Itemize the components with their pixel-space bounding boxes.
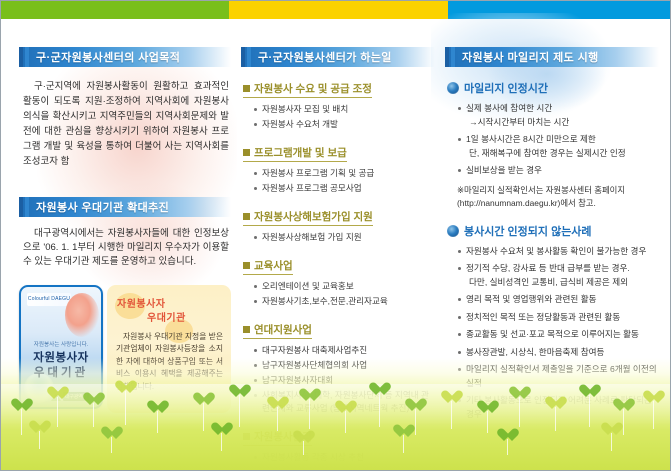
list-item: 실비보상을 받는 경우 (457, 164, 659, 178)
square-bullet-icon (243, 85, 250, 92)
columns-container: 구·군자원봉사센터의 사업목적 구·군지역에 자원봉사활동이 원활하고 효과적인… (1, 19, 671, 471)
left-section2-body: 대구광역시에서는 자원봉사자들에 대한 인정보상으로 '06. 1. 1부터 시… (23, 227, 229, 269)
middle-group-items: 대구자원봉사 대축제사업추진남구자원봉사단체협의회 사업남구자원봉사자대회사회복… (243, 344, 435, 415)
list-item: 오리엔테이션 및 교육홍보 (253, 280, 435, 293)
middle-group-heading: 자원봉사관리 (243, 429, 312, 446)
right-group-heading: 봉사시간 인정되지 않는사례 (447, 223, 659, 239)
list-item-text: 정치적인 목적 또는 정당활동과 관련된 활동 (466, 312, 620, 322)
square-bullet-icon (243, 149, 250, 156)
list-item-text: 실비보상을 받는 경우 (466, 165, 542, 175)
panel-title-line2: 우대기관 (147, 309, 186, 324)
emblem-label: 대구광역시 (63, 392, 89, 401)
list-item-text: 마일리지 실적확인서 제출일을 기준으로 6개월 이전의 실적 (466, 364, 657, 388)
panel-title-line1: 자원봉사자 (117, 295, 166, 310)
titlebar-tick-1 (19, 47, 23, 67)
middle-group-items: 자원봉사활동 각종 시상 추천자원봉사 동기부여, 인정, 보상자원봉사 체험활… (243, 451, 435, 471)
right-group: 마일리지 인정시간실제 봉사에 참여한 시간→시작시간부터 마치는 시간1일 봉… (447, 80, 659, 210)
city-emblem: 대구광역시 (51, 392, 95, 401)
middle-group-items: 자원봉사상해보험 가입 지원 (243, 231, 435, 244)
benefit-panel: 자원봉사자 우대기관 자원봉사 우대기관 지정을 받은 기관업체이 자원봉사등장… (107, 285, 231, 413)
list-item: 영리 목적 및 영업행위와 관련된 활동 (457, 293, 659, 307)
right-titlebar: 자원봉사 마일리지 제도 시행 (445, 47, 659, 67)
middle-group-heading-label: 교육사업 (254, 258, 293, 273)
list-item: 사회복지시설, 대학, 자원봉사단체 등 지역내 관련단체와 교류사업 (남구지… (253, 389, 435, 415)
left-section1-titlebar: 구·군자원봉사센터의 사업목적 (19, 47, 231, 67)
middle-group-heading: 교육사업 (243, 258, 293, 275)
titlebar-tick-2 (247, 47, 251, 67)
middle-group-items: 자원봉사자 모집 및 배치자원봉사 수요처 개발 (243, 103, 435, 131)
right-group: 봉사시간 인정되지 않는사례자원봉사 수요처 및 봉사활동 확인이 불가능한 경… (447, 223, 659, 422)
list-item: 자원봉사 수요처 및 봉사활동 확인이 불가능한 경우 (457, 245, 659, 259)
list-item-text: 실제 봉사에 참여한 시간 (466, 103, 552, 113)
blue-circle-icon (447, 82, 459, 94)
left-section2-title: 자원봉사 우대기관 확대추진 (36, 199, 169, 215)
list-item: 자원봉사상해보험 가입 지원 (253, 231, 435, 244)
list-item-text: 영리 목적 및 영업행위와 관련된 활동 (466, 294, 597, 304)
middle-titlebar: 구·군자원봉사센터가 하는일 (241, 47, 435, 67)
titlebar-tick-2 (451, 47, 455, 67)
left-section2-titlebar: 자원봉사 우대기관 확대추진 (19, 197, 231, 217)
titlebar-tick-1 (241, 47, 245, 67)
list-item: 자원봉사 동기부여, 인정, 보상 (253, 466, 435, 471)
middle-group-heading: 연대지원사업 (243, 322, 312, 339)
list-item: 정기적 수당, 강사료 등 반대 급부를 받는 경우.다만, 실비성격인 교통비… (457, 262, 659, 289)
right-group-heading-label: 봉사시간 인정되지 않는사례 (464, 223, 592, 239)
middle-title: 구·군자원봉사센터가 하는일 (258, 49, 392, 65)
list-item-text: 종교활동 및 선교·포교 목적으로 이루어지는 활동 (466, 329, 639, 339)
list-item-subtext: 다만, 실비성격인 교통비, 급식비 제공은 제외 (466, 276, 659, 290)
panel-body: 자원봉사 우대기관 지정을 받은 기관업체이 자원봉사등장을 소지한 자에 대하… (116, 331, 223, 393)
middle-group: 교육사업오리엔테이션 및 교육홍보자원봉사기초,보수,전문,관리자교육 (243, 258, 435, 308)
banner-segment-green (1, 1, 229, 19)
blue-circle-icon (447, 225, 459, 237)
square-bullet-icon (243, 213, 250, 220)
card-title-line2: 우대기관 (21, 366, 101, 381)
square-bullet-icon (243, 326, 250, 333)
right-group-items: 실제 봉사에 참여한 시간→시작시간부터 마치는 시간1일 봉사시간은 8시간 … (447, 102, 659, 178)
middle-group-heading-label: 자원봉사 수요 및 공급 조정 (254, 81, 372, 96)
right-group-heading: 마일리지 인정시간 (447, 80, 659, 96)
list-item: 남구자원봉사자대회 (253, 374, 435, 387)
right-title: 자원봉사 마일리지 제도 시행 (462, 49, 599, 65)
middle-group: 프로그램개발 및 보급자원봉사 프로그램 기획 및 공급자원봉사 프로그램 공모… (243, 145, 435, 195)
list-item: 자원봉사 프로그램 기획 및 공급 (253, 167, 435, 180)
titlebar-tick-1 (19, 197, 23, 217)
list-item: 정치적인 목적 또는 정당활동과 관련된 활동 (457, 311, 659, 325)
column-right: 자원봉사 마일리지 제도 시행 마일리지 인정시간실제 봉사에 참여한 시간→시… (445, 19, 659, 425)
fairy-illustration (65, 293, 99, 337)
card-title-line1: 자원봉사자 (21, 351, 101, 366)
list-item-subtext: →시작시간부터 마치는 시간 (466, 116, 659, 130)
titlebar-tick-1 (445, 47, 449, 67)
volunteer-card-image: Colourful DAEGU 자원봉사는 사랑입니다. 자원봉사자 우대기관 … (19, 285, 103, 409)
card-and-panel: Colourful DAEGU 자원봉사는 사랑입니다. 자원봉사자 우대기관 … (19, 285, 231, 417)
middle-group-heading-label: 프로그램개발 및 보급 (254, 145, 347, 160)
list-item: 마일리지 실적확인서 제출일을 기준으로 6개월 이전의 실적 (457, 363, 659, 390)
list-item-subtext: 단, 재해복구에 참여한 경우는 실제시간 인정 (466, 147, 659, 161)
list-item: 자원봉사기초,보수,전문,관리자교육 (253, 295, 435, 308)
middle-group-heading: 자원봉사 수요 및 공급 조정 (243, 81, 372, 98)
list-item: 남구자원봉사단체협의회 사업 (253, 359, 435, 372)
left-section1-title: 구·군자원봉사센터의 사업목적 (36, 49, 180, 65)
list-item-text: 기타 봉사활동으로 인정되기 어려운 사례로 판단되는 경우 (466, 395, 652, 419)
middle-group: 연대지원사업대구자원봉사 대축제사업추진남구자원봉사단체협의회 사업남구자원봉사… (243, 322, 435, 415)
middle-group: 자원봉사상해보험가입 지원자원봉사상해보험 가입 지원 (243, 209, 435, 244)
list-item: 자원봉사자 모집 및 배치 (253, 103, 435, 116)
list-item: 1일 봉사시간은 8시간 미만으로 제한단, 재해복구에 참여한 경우는 실제시… (457, 133, 659, 160)
middle-group-list: 자원봉사 수요 및 공급 조정자원봉사자 모집 및 배치자원봉사 수요처 개발프… (241, 81, 435, 471)
right-group-list: 마일리지 인정시간실제 봉사에 참여한 시간→시작시간부터 마치는 시간1일 봉… (445, 80, 659, 421)
top-color-banner (1, 1, 671, 19)
square-bullet-icon (243, 262, 250, 269)
middle-group-heading-label: 자원봉사관리 (254, 429, 312, 444)
list-item: 자원봉사활동 각종 시상 추천 (253, 451, 435, 464)
middle-group: 자원봉사관리자원봉사활동 각종 시상 추천자원봉사 동기부여, 인정, 보상자원… (243, 429, 435, 471)
list-item: 기타 봉사활동으로 인정되기 어려운 사례로 판단되는 경우 (457, 394, 659, 421)
middle-group-heading-label: 자원봉사상해보험가입 지원 (254, 209, 373, 224)
right-group-note: ※마일리지 실적확인서는 자원봉사센터 홈페이지 (http://nanumna… (447, 184, 659, 210)
list-item: 자원봉사 프로그램 공모사업 (253, 182, 435, 195)
titlebar-tick-2 (25, 47, 29, 67)
right-group-heading-label: 마일리지 인정시간 (464, 80, 548, 96)
middle-group-heading: 프로그램개발 및 보급 (243, 145, 347, 162)
middle-group: 자원봉사 수요 및 공급 조정자원봉사자 모집 및 배치자원봉사 수요처 개발 (243, 81, 435, 131)
middle-group-heading-label: 연대지원사업 (254, 322, 312, 337)
list-item: 종교활동 및 선교·포교 목적으로 이루어지는 활동 (457, 328, 659, 342)
banner-segment-yellow (229, 1, 448, 19)
list-item: 대구자원봉사 대축제사업추진 (253, 344, 435, 357)
column-middle: 구·군자원봉사센터가 하는일 자원봉사 수요 및 공급 조정자원봉사자 모집 및… (241, 19, 435, 471)
list-item: 봉사장관발, 시상식, 한마음축제 참여등 (457, 346, 659, 360)
list-item-text: 정기적 수당, 강사료 등 반대 급부를 받는 경우. (466, 263, 630, 273)
brochure-page: 구·군자원봉사센터의 사업목적 구·군지역에 자원봉사활동이 원활하고 효과적인… (0, 0, 671, 471)
titlebar-tick-2 (25, 197, 29, 217)
list-item-text: 1일 봉사시간은 8시간 미만으로 제한 (466, 134, 596, 144)
list-item: 실제 봉사에 참여한 시간→시작시간부터 마치는 시간 (457, 102, 659, 129)
middle-group-items: 자원봉사 프로그램 기획 및 공급자원봉사 프로그램 공모사업 (243, 167, 435, 195)
list-item-text: 자원봉사 수요처 및 봉사활동 확인이 불가능한 경우 (466, 246, 646, 256)
square-bullet-icon (243, 433, 250, 440)
emblem-mountain-icon (51, 393, 61, 401)
column-left: 구·군자원봉사센터의 사업목적 구·군지역에 자원봉사활동이 원활하고 효과적인… (19, 19, 231, 417)
right-group-items: 자원봉사 수요처 및 봉사활동 확인이 불가능한 경우정기적 수당, 강사료 등… (447, 245, 659, 422)
left-section1-body: 구·군지역에 자원봉사활동이 원활하고 효과적인 활동이 되도록 지원·조정하여… (23, 79, 229, 169)
banner-segment-blue (448, 1, 671, 19)
list-item-text: 봉사장관발, 시상식, 한마음축제 참여등 (466, 347, 604, 357)
list-item: 자원봉사 수요처 개발 (253, 118, 435, 131)
card-slogan: 자원봉사는 사랑입니다. (21, 340, 101, 348)
middle-group-items: 오리엔테이션 및 교육홍보자원봉사기초,보수,전문,관리자교육 (243, 280, 435, 308)
daegu-logo: Colourful DAEGU (27, 293, 71, 306)
middle-group-heading: 자원봉사상해보험가입 지원 (243, 209, 373, 226)
